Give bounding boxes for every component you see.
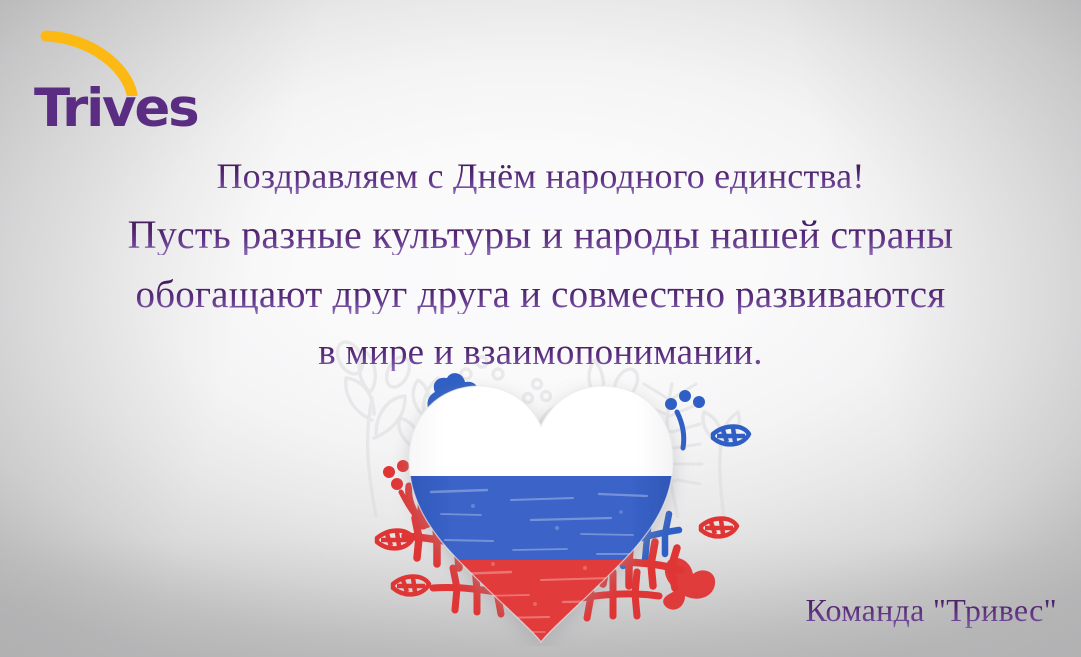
greeting-card: Trives Поздравляем с Днём народного един… [0, 0, 1081, 657]
greeting-text-block: Поздравляем с Днём народного единства! П… [0, 158, 1081, 371]
signature-text: Команда "Тривес" [806, 592, 1058, 629]
flag-heart-shape [391, 368, 691, 646]
greeting-line-2: Пусть разные культуры и народы нашей стр… [0, 215, 1081, 255]
flag-heart-emblem [281, 368, 801, 646]
logo-wordmark: Trives [34, 82, 197, 135]
greeting-line-4: в мире и взаимопонимании. [0, 334, 1081, 371]
brand-logo[interactable]: Trives [34, 26, 244, 132]
greeting-line-1: Поздравляем с Днём народного единства! [0, 158, 1081, 194]
greeting-line-3: обогащают друг друга и совместно развива… [0, 275, 1081, 314]
